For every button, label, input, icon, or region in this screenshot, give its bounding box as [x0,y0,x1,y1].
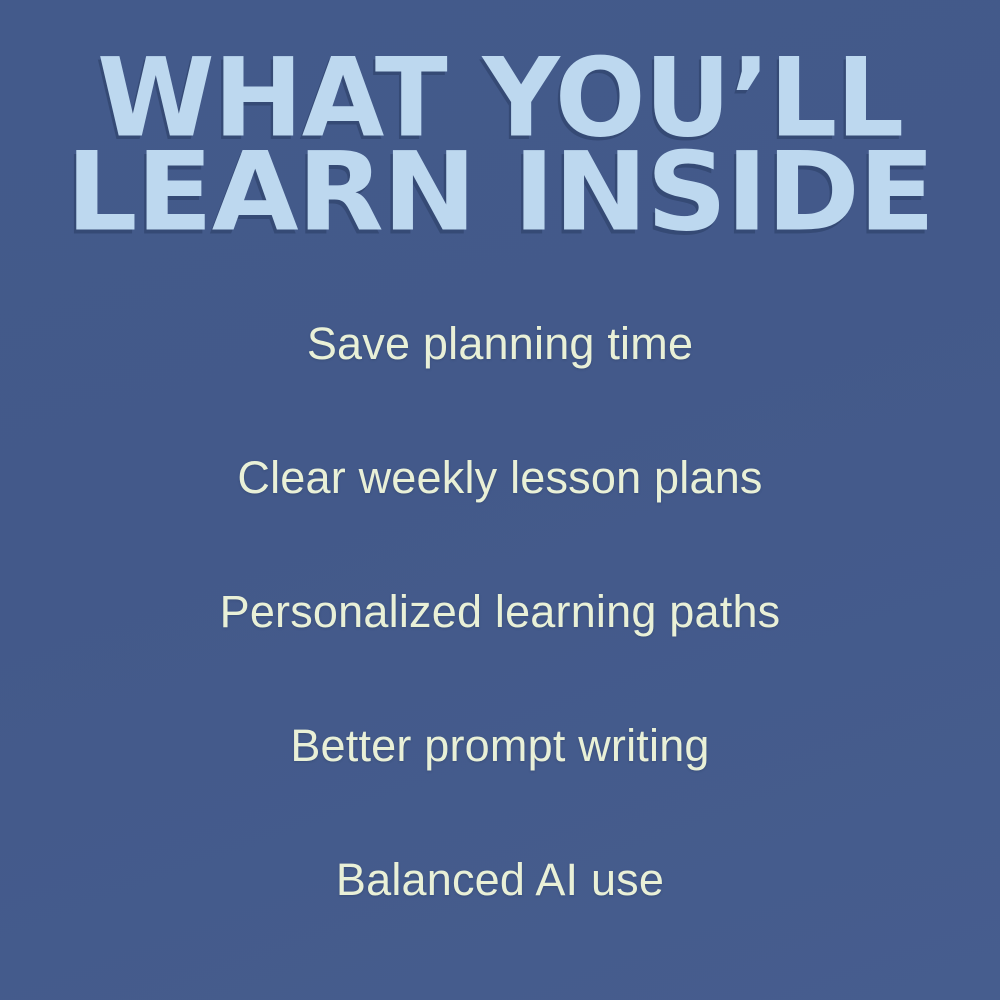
benefit-label: Personalized learning paths [220,589,781,634]
list-item: Clear weekly lesson plans [0,410,1000,544]
list-item: Better prompt writing [0,678,1000,812]
benefit-label: Balanced AI use [336,857,664,902]
list-item: Balanced AI use [0,812,1000,946]
benefit-label: Better prompt writing [290,723,709,768]
benefit-label: Clear weekly lesson plans [237,455,762,500]
page-title-line-2: LEARN INSIDE [0,124,1000,235]
benefit-list: Save planning time Clear weekly lesson p… [0,276,1000,946]
list-item: Personalized learning paths [0,544,1000,678]
benefit-label: Save planning time [307,321,693,366]
page-title: WHAT YOU’LL LEARN INSIDE [0,40,1000,226]
poster-canvas: WHAT YOU’LL LEARN INSIDE Save planning t… [0,0,1000,1000]
list-item: Save planning time [0,276,1000,410]
